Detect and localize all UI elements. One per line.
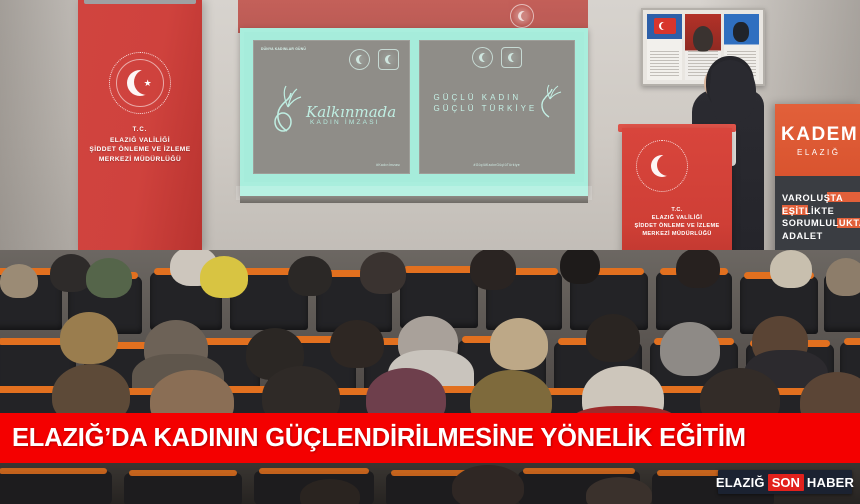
audience-head xyxy=(586,314,640,362)
audience-head xyxy=(0,264,38,298)
banner-line-3: MERKEZİ MÜDÜRLÜĞÜ xyxy=(78,155,202,165)
audience-head-scarf xyxy=(490,318,548,370)
audience-head xyxy=(360,252,406,294)
kadem-slogan-line-1: VAROLUŞTA xyxy=(782,192,860,205)
audience-head xyxy=(586,477,652,504)
audience-head xyxy=(288,256,332,296)
logo-part-2: SON xyxy=(768,474,804,491)
slide-emblem-group xyxy=(472,47,522,68)
kadem-slogan-line-2: EŞİTLİKTE xyxy=(782,205,860,218)
screen-bottom-bar xyxy=(240,196,588,203)
audience-head xyxy=(86,258,132,298)
audience-head xyxy=(826,258,860,296)
audience-head xyxy=(560,250,600,284)
kadem-slogan-line-3: SORUMLULUKTA xyxy=(782,217,860,230)
audience-head xyxy=(200,256,248,298)
projection-screen-content: DÜNYA KADINLAR GÜNÜ Kalkınmada KADIN İMZ… xyxy=(244,32,584,182)
banner-line-tc: T.C. xyxy=(78,126,202,136)
audience-head xyxy=(660,322,720,376)
audience-head xyxy=(330,320,384,368)
seat xyxy=(124,473,242,504)
rollup-banner-text: T.C. ELAZIĞ VALİLİĞİ ŞİDDET ÖNLEME VE İZ… xyxy=(78,126,202,164)
backdrop-emblem-icon xyxy=(510,4,534,28)
headline-banner: ELAZIĞ’DA KADININ GÜÇLENDİRİLMESİNE YÖNE… xyxy=(0,413,860,463)
audience-head xyxy=(770,250,812,288)
slide-line-2: GÜÇLÜ TÜRKİYE xyxy=(434,104,538,113)
audience-area xyxy=(0,250,860,422)
tulip-calligraphy-icon xyxy=(536,81,562,119)
flag-panel xyxy=(647,14,682,80)
audience-head xyxy=(676,250,720,288)
audience-head-scarf xyxy=(60,312,118,364)
rollup-banner-left: ★ T.C. ELAZIĞ VALİLİĞİ ŞİDDET ÖNLEME VE … xyxy=(78,0,202,252)
podium-banner-text: T.C. ELAZIĞ VALİLİĞİ ŞİDDET ÖNLEME VE İZ… xyxy=(622,206,732,238)
kadem-slogan-line-4: ADALET xyxy=(782,230,860,243)
banner-line-1: ELAZIĞ VALİLİĞİ xyxy=(78,136,202,146)
slide-footer: #Kadınİmzası xyxy=(376,163,400,167)
audience-head xyxy=(452,465,524,504)
kadem-slogan: VAROLUŞTA EŞİTLİKTE SORUMLULUKTA ADALET xyxy=(782,192,860,242)
podium-line-1: ELAZIĞ VALİLİĞİ xyxy=(622,214,732,222)
campaign-emblem-icon xyxy=(501,47,522,68)
kadem-name: KADEM xyxy=(781,124,858,146)
slide-guclu-kadin: GÜÇLÜ KADIN GÜÇLÜ TÜRKİYE #GüçlüKadınGüç… xyxy=(419,40,576,174)
podium-line-tc: T.C. xyxy=(622,206,732,214)
slide-emblem-group xyxy=(349,49,399,70)
slide-subtitle: KADIN İMZASI xyxy=(310,119,380,126)
kadem-city: ELAZIĞ xyxy=(797,148,840,157)
republic-emblem-icon xyxy=(636,140,688,192)
news-site-logo[interactable]: ELAZIĞ SON HABER xyxy=(718,470,852,494)
podium-line-3: MERKEZİ MÜDÜRLÜĞÜ xyxy=(622,230,732,238)
ministry-emblem-icon xyxy=(349,49,370,70)
star-icon: ★ xyxy=(144,79,152,88)
podium-line-2: ŞİDDET ÖNLEME VE İZLEME xyxy=(622,222,732,230)
ministry-emblem-icon xyxy=(472,47,493,68)
republic-emblem-icon: ★ xyxy=(109,52,171,114)
slide-corner-note: DÜNYA KADINLAR GÜNÜ xyxy=(261,47,306,52)
seat xyxy=(0,471,112,504)
slide-line-1: GÜÇLÜ KADIN xyxy=(434,93,522,102)
slide-kalkinmada: DÜNYA KADINLAR GÜNÜ Kalkınmada KADIN İMZ… xyxy=(253,40,410,174)
slide-hashtag: #GüçlüKadınGüçlüTürkiye xyxy=(474,163,520,167)
logo-part-1: ELAZIĞ xyxy=(716,475,765,490)
headline-text: ELAZIĞ’DA KADININ GÜÇLENDİRİLMESİNE YÖNE… xyxy=(0,413,758,463)
tulip-calligraphy-icon xyxy=(270,81,304,133)
banner-line-2: ŞİDDET ÖNLEME VE İZLEME xyxy=(78,145,202,155)
banner-top-rail xyxy=(84,0,196,4)
campaign-emblem-icon xyxy=(378,49,399,70)
logo-part-3: HABER xyxy=(807,475,854,490)
news-photo-stage: DÜNYA KADINLAR GÜNÜ Kalkınmada KADIN İMZ… xyxy=(0,0,860,504)
audience-head xyxy=(470,250,516,290)
